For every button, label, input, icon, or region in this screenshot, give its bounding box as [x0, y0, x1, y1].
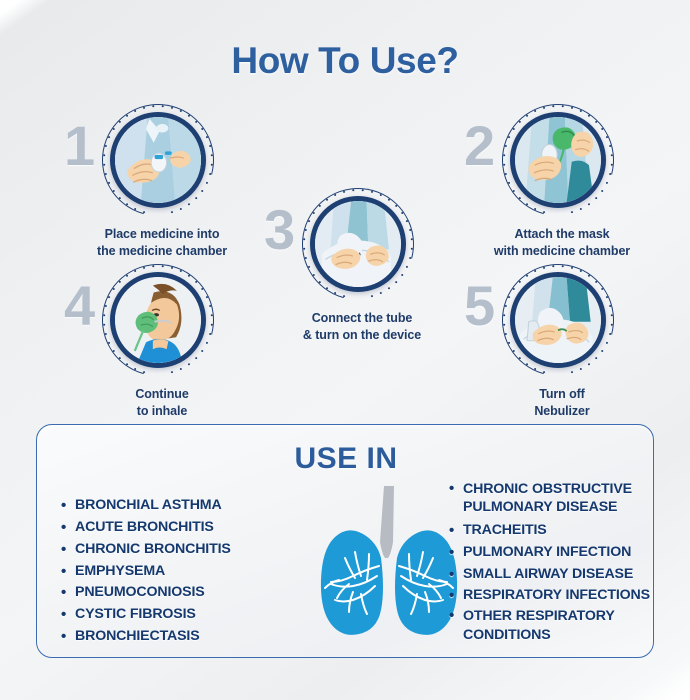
page-title: How To Use?: [0, 40, 690, 82]
step-caption-line-2: with medicine chamber: [462, 243, 662, 260]
man-inhaling-with-mask-icon: [110, 272, 206, 368]
step-caption-line-2: to inhale: [62, 403, 262, 420]
step-number-3: 3: [264, 202, 295, 258]
step-item-5: 5: [462, 264, 662, 419]
conditions-list-left: BRONCHIAL ASTHMA ACUTE BRONCHITIS CHRONI…: [59, 495, 309, 648]
step-caption-5: Turn off Nebulizer: [462, 386, 662, 419]
list-item: CHRONIC BRONCHITIS: [59, 539, 309, 561]
step-caption-line-1: Place medicine into: [62, 226, 262, 243]
step-caption-line-2: the medicine chamber: [62, 243, 262, 260]
step-graphic-row: 1: [62, 104, 262, 222]
use-in-title: USE IN: [37, 442, 655, 476]
list-item: SMALL AIRWAY DISEASE: [447, 564, 655, 586]
list-item: CYSTIC FIBROSIS: [59, 604, 309, 626]
step-item-4: 4: [62, 264, 262, 419]
step-caption-line-1: Attach the mask: [462, 226, 662, 243]
list-item: TRACHEITIS: [447, 520, 655, 542]
list-item: ACUTE BRONCHITIS: [59, 517, 309, 539]
step-graphic-row: 3: [262, 188, 462, 306]
hands-connecting-tube-to-nebulizer-icon: [310, 196, 406, 292]
list-item: BRONCHIAL ASTHMA: [59, 495, 309, 517]
step-item-1: 1: [62, 104, 262, 259]
hand-inserting-medicine-into-chamber-icon: [110, 112, 206, 208]
step-caption-4: Continue to inhale: [62, 386, 262, 419]
step-circle-4: [102, 264, 214, 376]
step-item-2: 2: [462, 104, 662, 259]
step-circle-1: [102, 104, 214, 216]
step-caption-line-2: Nebulizer: [462, 403, 662, 420]
step-graphic-row: 5: [462, 264, 662, 382]
step-caption-3: Connect the tube & turn on the device: [262, 310, 462, 343]
hand-switching-off-nebulizer-icon: [510, 272, 606, 368]
list-item: PULMONARY INFECTION: [447, 542, 655, 564]
infographic-canvas: How To Use? 1: [0, 0, 690, 700]
list-item: BRONCHIECTASIS: [59, 626, 309, 648]
list-item: CHRONIC OBSTRUCTIVE PULMONARY DISEASE: [447, 480, 655, 517]
lungs-with-bronchial-tree-icon: [309, 480, 469, 640]
step-graphic-row: 2: [462, 104, 662, 222]
step-caption-2: Attach the mask with medicine chamber: [462, 226, 662, 259]
step-item-3: 3: [262, 188, 462, 343]
step-number-4: 4: [64, 278, 95, 334]
step-number-1: 1: [64, 118, 95, 174]
step-graphic-row: 4: [62, 264, 262, 382]
list-item: EMPHYSEMA: [59, 561, 309, 583]
step-circle-2: [502, 104, 614, 216]
list-item: OTHER RESPIRATORY CONDITIONS: [447, 607, 655, 644]
step-number-2: 2: [464, 118, 495, 174]
hands-attaching-green-mask-icon: [510, 112, 606, 208]
list-item: RESPIRATORY INFECTIONS: [447, 585, 655, 607]
step-number-5: 5: [464, 278, 495, 334]
step-caption-line-1: Continue: [62, 386, 262, 403]
list-item: PNEUMOCONIOSIS: [59, 582, 309, 604]
use-in-panel: USE IN BRONCHIAL ASTHMA ACUTE BRONCHITIS…: [36, 424, 654, 658]
step-circle-5: [502, 264, 614, 376]
step-caption-line-2: & turn on the device: [262, 327, 462, 344]
step-caption-1: Place medicine into the medicine chamber: [62, 226, 262, 259]
conditions-list-right: CHRONIC OBSTRUCTIVE PULMONARY DISEASE TR…: [447, 480, 655, 647]
step-caption-line-1: Turn off: [462, 386, 662, 403]
step-caption-line-1: Connect the tube: [262, 310, 462, 327]
step-circle-3: [302, 188, 414, 300]
